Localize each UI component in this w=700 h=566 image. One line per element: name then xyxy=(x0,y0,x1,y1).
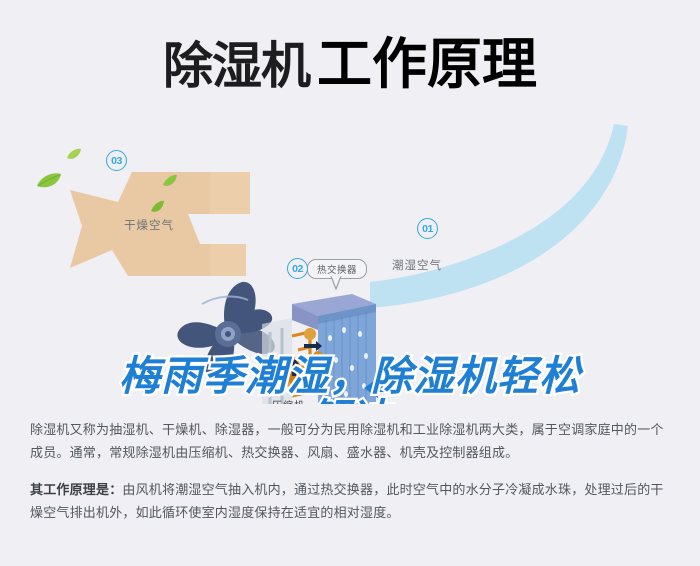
dry-air-label: 干燥空气 xyxy=(124,217,174,233)
leaf-icon xyxy=(66,148,82,161)
leaf-icon xyxy=(162,174,178,188)
compressor-label: 压缩机 xyxy=(272,397,305,404)
leaf-icon xyxy=(150,200,165,214)
heat-exchanger-label: 热交换器 xyxy=(317,262,357,276)
page-header: 除湿机 工作原理 xyxy=(0,0,700,118)
diagram-badge-03: 03 xyxy=(106,150,127,171)
leaf-icon xyxy=(36,172,62,190)
page-title-secondary: 工作原理 xyxy=(317,19,537,99)
page-root: 除湿机 工作原理 xyxy=(0,0,700,566)
diagram-badge-02: 02 xyxy=(287,258,308,279)
body-copy: 除湿机又称为抽湿机、干燥机、除湿器，一般可分为民用除湿机和工业除湿机两大类，属于… xyxy=(30,418,675,524)
diagram-badge-01: 01 xyxy=(417,218,438,239)
dehumidifier-unit-icon xyxy=(248,272,408,404)
page-title-primary: 除湿机 xyxy=(163,26,310,98)
humid-air-swoosh-icon xyxy=(370,122,630,332)
humid-air-label: 潮湿空气 xyxy=(392,257,442,273)
body-paragraph-2-rest: 由风机将潮湿空气抽入机内，通过热交换器，此时空气中的水分子冷凝成水珠，处理过后的… xyxy=(30,482,664,520)
body-paragraph-2-lead: 其工作原理是： xyxy=(30,482,122,497)
callout-tail-icon xyxy=(330,276,342,290)
body-paragraph-1: 除湿机又称为抽湿机、干燥机、除湿器，一般可分为民用除湿机和工业除湿机两大类，属于… xyxy=(30,418,675,464)
dehumidifier-diagram: 热交换器 03 02 01 干燥空气 潮湿空气 压缩机 水箱 02 潮湿空气经过… xyxy=(0,112,700,404)
page-title: 除湿机 工作原理 xyxy=(163,19,537,99)
body-paragraph-2: 其工作原理是：由风机将潮湿空气抽入机内，通过热交换器，此时空气中的水分子冷凝成水… xyxy=(30,478,675,524)
